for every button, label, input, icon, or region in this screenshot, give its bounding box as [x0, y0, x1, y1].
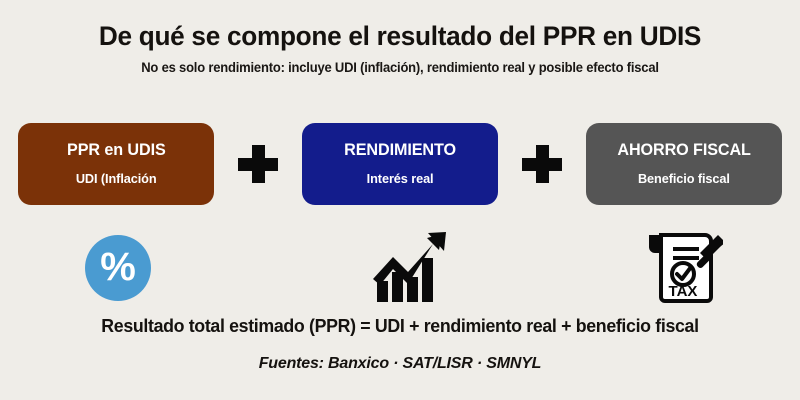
page-subtitle: No es solo rendimiento: incluye UDI (inf…: [12, 50, 788, 76]
icon-row: % TAX: [0, 218, 800, 318]
icon-slot-rendimiento: [350, 218, 470, 318]
component-card-title: AHORRO FISCAL: [617, 141, 750, 160]
growth-chart-icon: [371, 231, 449, 305]
tax-document-icon: TAX: [643, 229, 723, 307]
header-block: De qué se compone el resultado del PPR e…: [0, 0, 800, 76]
component-card-ahorro-fiscal: AHORRO FISCAL Beneficio fiscal: [586, 123, 782, 205]
component-card-subtitle: Beneficio fiscal: [638, 172, 730, 187]
icon-slot-ppr-udis: %: [58, 218, 178, 318]
sources-text: Fuentes: Banxico · SAT/LISR · SMNYL: [0, 336, 800, 373]
plus-operator-icon-1: [237, 143, 279, 185]
formula-text: Resultado total estimado (PPR) = UDI + r…: [16, 316, 784, 336]
component-card-title: PPR en UDIS: [67, 141, 166, 160]
component-card-ppr-udis: PPR en UDIS UDI (Inflación: [18, 123, 214, 205]
component-row: PPR en UDIS UDI (Inflación RENDIMIENTO I…: [0, 118, 800, 210]
component-card-subtitle: Interés real: [367, 172, 434, 187]
percent-glyph: %: [100, 247, 136, 287]
infographic-canvas: De qué se compone el resultado del PPR e…: [0, 0, 800, 400]
page-title: De qué se compone el resultado del PPR e…: [12, 0, 788, 50]
component-card-rendimiento: RENDIMIENTO Interés real: [302, 123, 498, 205]
component-card-subtitle: UDI (Inflación: [76, 172, 157, 187]
tax-label: TAX: [669, 283, 698, 300]
component-card-title: RENDIMIENTO: [344, 141, 456, 160]
icon-slot-ahorro-fiscal: TAX: [623, 218, 743, 318]
plus-operator-icon-2: [521, 143, 563, 185]
percent-icon: %: [85, 235, 151, 301]
footer-block: Resultado total estimado (PPR) = UDI + r…: [0, 316, 800, 373]
